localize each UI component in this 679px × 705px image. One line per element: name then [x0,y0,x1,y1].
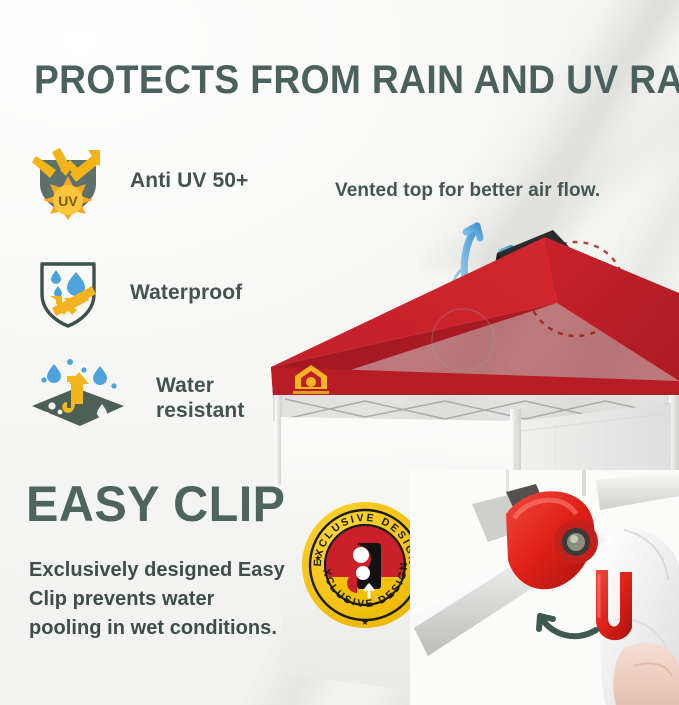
svg-text:★: ★ [361,617,369,627]
hand [613,643,679,705]
vented-top-caption: Vented top for better air flow. [335,180,600,202]
water-resistant-icon [22,358,134,438]
feature-label: Waterproof [130,280,242,305]
uv-shield-icon: UV [30,140,106,220]
svg-text:★: ★ [314,553,322,563]
easy-clip-photo [410,470,679,705]
feature-label: Water resistant [156,373,244,423]
feature-row-anti-uv: UV Anti UV 50+ [30,140,248,220]
feature-row-water-resistant: Water resistant [22,358,244,438]
uv-badge-text: UV [58,193,78,209]
clip-knob [554,520,598,564]
easy-clip-body: Exclusively designed Easy Clip prevents … [29,556,291,643]
feature-row-waterproof: Waterproof [30,252,242,332]
infographic-canvas: PROTECTS FROM RAIN AND UV RAYS [0,0,679,705]
page-headline: PROTECTS FROM RAIN AND UV RAYS [34,58,611,102]
easy-clip-title: EASY CLIP [26,478,286,530]
waterproof-shield-icon [30,252,106,332]
canopy-roof [271,230,679,395]
feature-label: Anti UV 50+ [130,168,248,193]
